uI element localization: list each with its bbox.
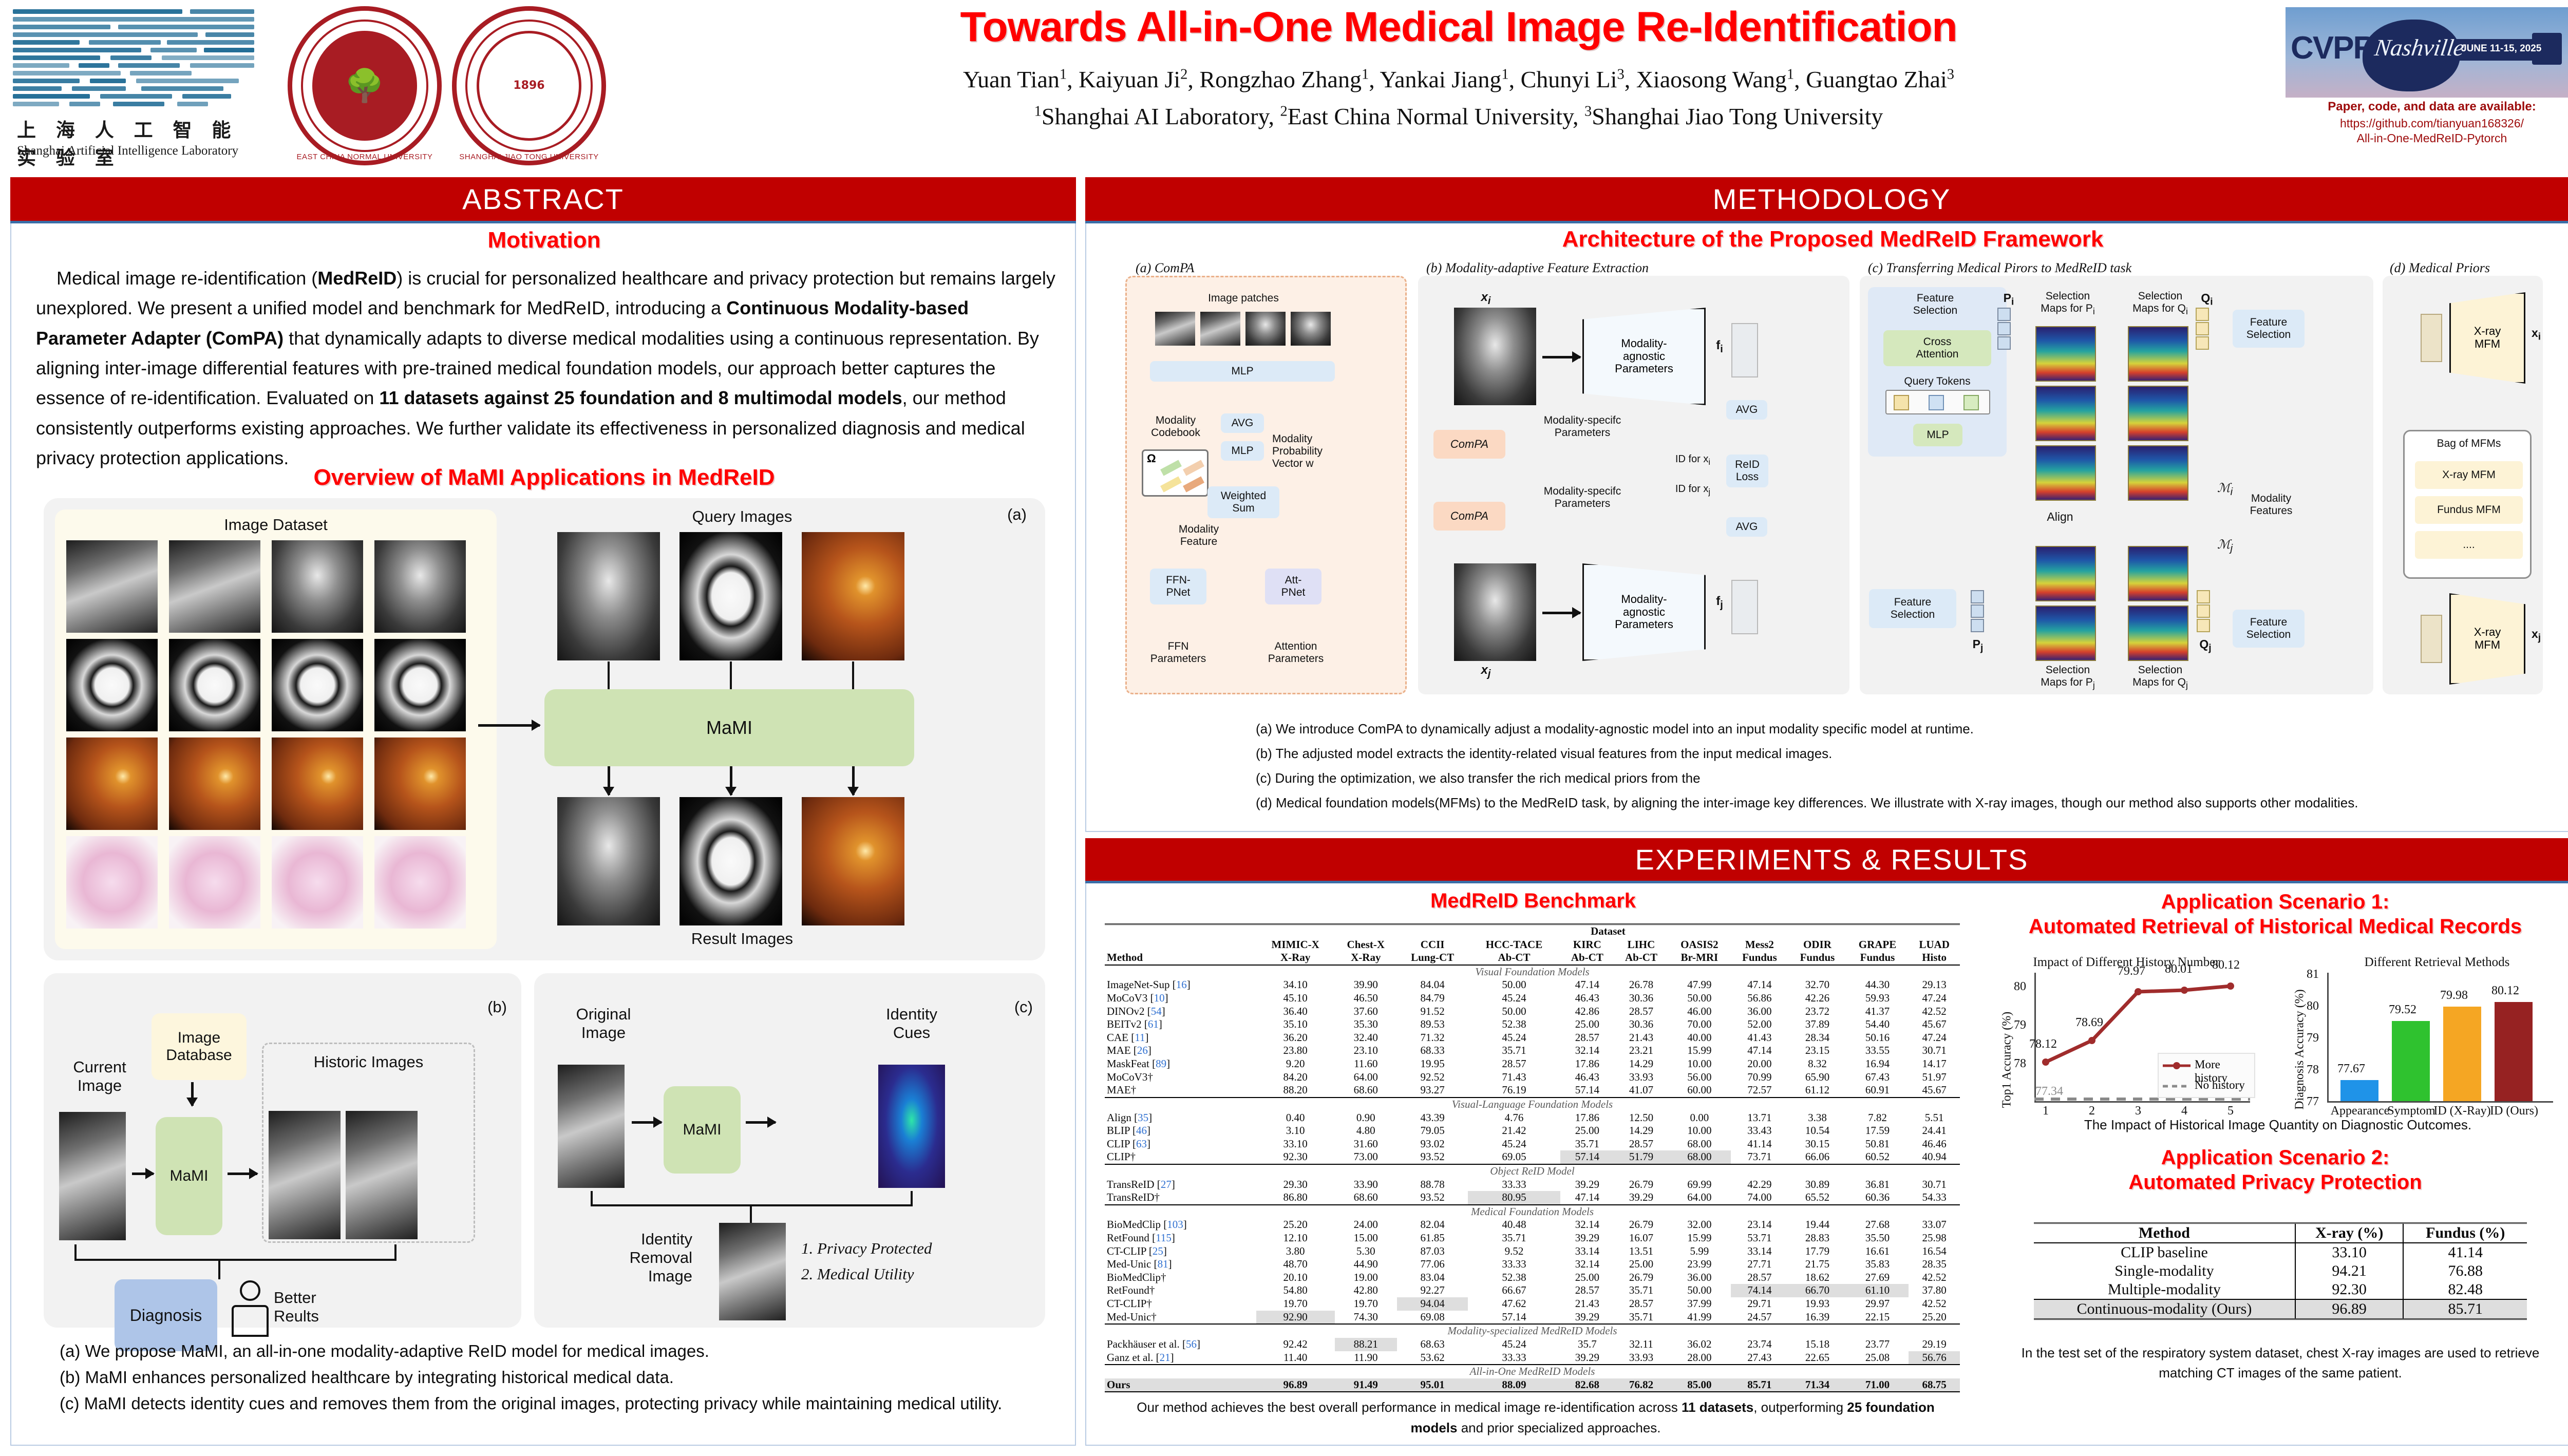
benchmark-method-cell: Align [35] — [1105, 1111, 1256, 1125]
benchmark-value-cell: 25.20 — [1256, 1218, 1335, 1232]
benchmark-col-header-5: LIHCAb-CT — [1614, 938, 1668, 965]
benchmark-value-cell: 15.18 — [1788, 1338, 1846, 1351]
benchmark-value-cell: 16.94 — [1846, 1057, 1909, 1071]
benchmark-value-cell: 51.79 — [1614, 1150, 1668, 1164]
benchmark-value-cell: 0.40 — [1256, 1111, 1335, 1125]
benchmark-value-cell: 15.99 — [1668, 1044, 1731, 1057]
benchmark-value-cell: 33.93 — [1614, 1071, 1668, 1084]
benchmark-group-row: Modality-specialized MedReID Models — [1105, 1324, 1960, 1338]
benchmark-method-cell: CT-CLIP† — [1105, 1297, 1256, 1311]
benchmark-value-cell: 45.67 — [1909, 1084, 1960, 1098]
benchmark-value-cell: 36.00 — [1668, 1271, 1731, 1284]
benchmark-value-cell: 52.38 — [1468, 1271, 1560, 1284]
benchmark-value-cell: 36.00 — [1731, 1005, 1789, 1018]
m-j-label: ℳj — [2213, 538, 2237, 555]
benchmark-value-cell: 60.36 — [1846, 1191, 1909, 1205]
bar-chart-xaxis — [2327, 1101, 2553, 1103]
benchmark-value-cell: 21.75 — [1788, 1258, 1846, 1271]
benchmark-method-cell: Ganz et al. [21] — [1105, 1351, 1256, 1365]
benchmark-value-cell: 80.95 — [1468, 1191, 1560, 1205]
benchmark-value-cell: 93.02 — [1397, 1138, 1468, 1151]
image-dataset-container: Image Dataset — [55, 509, 497, 949]
table-row: CT-CLIP†19.7019.7094.0447.6221.4328.5737… — [1105, 1297, 1960, 1311]
benchmark-value-cell: 32.14 — [1560, 1044, 1614, 1057]
table-row: Single-modality94.2176.88 — [2034, 1262, 2527, 1280]
benchmark-value-cell: 35.71 — [1468, 1044, 1560, 1057]
history-number-line-chart: Impact of Different History Number Top1 … — [1990, 955, 2262, 1120]
github-url[interactable]: https://github.com/tianyuan168326/ All-i… — [2286, 116, 2568, 146]
benchmark-value-cell: 47.14 — [1731, 978, 1789, 992]
benchmark-value-cell: 34.10 — [1256, 978, 1335, 992]
col-sub: Lung-CT — [1411, 951, 1454, 963]
compa-box-j: ComPA — [1433, 502, 1505, 531]
mfm-item-xray: X-ray MFM — [2415, 461, 2523, 489]
benchmark-value-cell: 23.99 — [1668, 1258, 1731, 1271]
bar-xtick-appearance: Appearance — [2329, 1104, 2391, 1118]
benchmark-value-cell: 44.30 — [1846, 978, 1909, 992]
benchmark-value-cell: 57.14 — [1560, 1150, 1614, 1164]
benchmark-value-cell: 68.60 — [1335, 1084, 1398, 1098]
compa-avg-box: AVG — [1221, 413, 1264, 433]
benchmark-value-cell: 23.15 — [1788, 1044, 1846, 1057]
benchmark-value-cell: 69.99 — [1668, 1178, 1731, 1192]
xray-mfm-box-top: X-ray MFM — [2449, 292, 2525, 384]
benchmark-value-cell: 41.07 — [1614, 1084, 1668, 1098]
benchmark-method-cell: CT-CLIP [25] — [1105, 1245, 1256, 1258]
benchmark-value-cell: 45.10 — [1256, 992, 1335, 1005]
benchmark-group-title: Medical Foundation Models — [1105, 1205, 1960, 1219]
overview-heading: Overview of MaMI Applications in MedReID — [11, 465, 1077, 490]
benchmark-value-cell: 33.93 — [1614, 1351, 1668, 1365]
benchmark-value-cell: 47.24 — [1909, 992, 1960, 1005]
benchmark-group-row: Object ReID Model — [1105, 1164, 1960, 1178]
abstract-caption-b: (b) MaMI enhances personalized healthcar… — [36, 1364, 1058, 1390]
line-xtick-4: 4 — [2181, 1104, 2187, 1118]
benchmark-value-cell: 47.99 — [1668, 978, 1731, 992]
benchmark-value-cell: 41.14 — [1731, 1138, 1789, 1151]
figure-b-panel: (b) Current Image Image Database Histori… — [44, 973, 521, 1328]
benchmark-value-cell: 11.90 — [1335, 1351, 1398, 1365]
benchmark-value-cell: 15.00 — [1335, 1232, 1398, 1245]
benchmark-value-cell: 32.70 — [1788, 978, 1846, 992]
benchmark-value-cell: 42.52 — [1909, 1297, 1960, 1311]
ffn-pnet-box: FFN- PNet — [1150, 569, 1206, 604]
panel-d-title: (d) Medical Priors — [2390, 260, 2490, 276]
medical-utility-bullet: 2. Medical Utility — [801, 1265, 1022, 1283]
benchmark-value-cell: 68.60 — [1335, 1191, 1398, 1205]
benchmark-value-cell: 39.90 — [1335, 978, 1398, 992]
identity-removal-label: Identity Removal Image — [564, 1230, 692, 1285]
benchmark-value-cell: 30.71 — [1909, 1044, 1960, 1057]
figure-b-historic-xray-2 — [346, 1111, 418, 1239]
benchmark-value-cell: 74.14 — [1731, 1284, 1789, 1297]
result-thumb-fundus — [802, 797, 904, 925]
benchmark-value-cell: 25.00 — [1560, 1271, 1614, 1284]
line-ytick-80: 80 — [2014, 980, 2026, 994]
benchmark-value-cell: 54.40 — [1846, 1018, 1909, 1031]
benchmark-value-cell: 76.19 — [1468, 1084, 1560, 1098]
benchmark-value-cell: 33.43 — [1731, 1124, 1789, 1138]
col-sub: Fundus — [1742, 951, 1777, 963]
privacy-protected-bullet: 1. Privacy Protected — [801, 1239, 1022, 1258]
benchmark-value-cell: 41.37 — [1846, 1005, 1909, 1018]
benchmark-method-cell: BEITv2 [61] — [1105, 1018, 1256, 1031]
benchmark-value-cell: 32.14 — [1560, 1258, 1614, 1271]
app2-heading-line2: Automated Privacy Protection — [1985, 1170, 2565, 1195]
selmap-pi-2 — [2035, 386, 2096, 441]
benchmark-method-cell: TransReID† — [1105, 1191, 1256, 1205]
bar-ytick-80: 80 — [2307, 999, 2319, 1013]
privacy-xray-cell: 33.10 — [2295, 1243, 2404, 1262]
benchmark-value-cell: 65.90 — [1788, 1071, 1846, 1084]
mfm-item-fundus: Fundus MFM — [2415, 496, 2523, 524]
col-name: GRAPE — [1859, 938, 1897, 951]
benchmark-group-title: All-in-One MedReID Models — [1105, 1365, 1960, 1378]
sjtu-emblem: 1896 — [477, 31, 581, 141]
benchmark-value-cell: 57.14 — [1468, 1311, 1560, 1325]
bar-ytick-77: 77 — [2307, 1095, 2319, 1109]
benchmark-value-cell: 10.00 — [1668, 1124, 1731, 1138]
q-j-label: Qj — [2194, 637, 2217, 654]
benchmark-value-cell: 14.29 — [1614, 1124, 1668, 1138]
modality-agnostic-box-j: Modality- agnostic Parameters — [1582, 563, 1706, 661]
patch-thumb-1 — [1155, 312, 1195, 346]
benchmark-value-cell: 28.35 — [1909, 1258, 1960, 1271]
benchmark-value-cell: 88.21 — [1335, 1338, 1398, 1351]
benchmark-value-cell: 65.52 — [1788, 1191, 1846, 1205]
benchmark-value-cell: 28.57 — [1731, 1271, 1789, 1284]
benchmark-value-cell: 70.00 — [1668, 1018, 1731, 1031]
benchmark-value-cell: 24.41 — [1909, 1124, 1960, 1138]
benchmark-value-cell: 69.08 — [1397, 1311, 1468, 1325]
github-url-line2: All-in-One-MedReID-Pytorch — [2357, 131, 2507, 145]
identity-removal-xray — [719, 1223, 786, 1320]
benchmark-method-cell: BioMedClip [103] — [1105, 1218, 1256, 1232]
methodology-panel: Architecture of the Proposed MedReID Fra… — [1085, 223, 2568, 832]
reid-loss-box: ReID Loss — [1726, 455, 1768, 487]
benchmark-value-cell: 28.57 — [1560, 1284, 1614, 1297]
dataset-thumb-fundus-3 — [272, 738, 363, 830]
benchmark-value-cell: 28.00 — [1668, 1351, 1731, 1365]
methodology-caption-a: (a) We introduce ComPA to dynamically ad… — [1256, 716, 2540, 741]
benchmark-value-cell: 14.29 — [1614, 1057, 1668, 1071]
app1-heading: Application Scenario 1: Automated Retrie… — [1985, 890, 2565, 939]
line-ytick-79: 79 — [2014, 1018, 2026, 1032]
benchmark-group-row: Medical Foundation Models — [1105, 1205, 1960, 1219]
benchmark-value-cell: 42.52 — [1909, 1005, 1960, 1018]
modality-specific-label-j: Modality-specifc Parameters — [1516, 485, 1649, 510]
sail-chinese-name: 上 海 人 工 智 能 实 验 室 — [17, 115, 259, 170]
benchmark-value-cell: 32.14 — [1560, 1218, 1614, 1232]
benchmark-group-row: All-in-One MedReID Models — [1105, 1365, 1960, 1378]
benchmark-value-cell: 76.82 — [1614, 1378, 1668, 1392]
modality-probability-label: Modality Probability Vector w — [1272, 433, 1370, 470]
benchmark-value-cell: 50.00 — [1668, 1284, 1731, 1297]
benchmark-value-cell: 52.00 — [1731, 1018, 1789, 1031]
benchmark-value-cell: 36.81 — [1846, 1178, 1909, 1192]
benchmark-value-cell: 68.75 — [1909, 1378, 1960, 1392]
benchmark-value-cell: 61.85 — [1397, 1232, 1468, 1245]
benchmark-value-cell: 35.10 — [1256, 1018, 1335, 1031]
result-images-label: Result Images — [537, 930, 948, 948]
ecnu-seal-caption: EAST CHINA NORMAL UNIVERSITY — [288, 153, 442, 161]
privacy-fundus-cell: 85.71 — [2403, 1299, 2527, 1319]
benchmark-col-header-1: Chest-XX-Ray — [1335, 938, 1398, 965]
mfm-feature-map-bottom — [2421, 615, 2442, 663]
line-xtick-2: 2 — [2089, 1104, 2095, 1118]
feature-selection-box-bottom: Feature Selection — [1869, 589, 1956, 628]
benchmark-value-cell: 3.38 — [1788, 1111, 1846, 1125]
id-for-xi-label: ID for xi — [1659, 453, 1726, 467]
line-point-3 — [2135, 988, 2142, 995]
benchmark-value-cell: 30.89 — [1788, 1178, 1846, 1192]
benchmark-value-cell: 84.20 — [1256, 1071, 1335, 1084]
benchmark-value-cell: 41.99 — [1668, 1311, 1731, 1325]
benchmark-value-cell: 56.86 — [1731, 992, 1789, 1005]
benchmark-value-cell: 28.83 — [1788, 1232, 1846, 1245]
selection-maps-qj-label: Selection Maps for Qj — [2117, 664, 2204, 690]
bar-datalabel-id-xray: 79.98 — [2440, 989, 2468, 1003]
input-xj-label: xj — [1440, 663, 1532, 680]
benchmark-value-cell: 60.00 — [1668, 1084, 1731, 1098]
benchmark-value-cell: 82.68 — [1560, 1378, 1614, 1392]
table-row: Packhäuser et al. [56]92.4288.2168.6345.… — [1105, 1338, 1960, 1351]
benchmark-col-header-9: GRAPEFundus — [1846, 938, 1909, 965]
benchmark-value-cell: 94.04 — [1397, 1297, 1468, 1311]
benchmark-value-cell: 71.32 — [1397, 1031, 1468, 1045]
app1-heading-line2: Automated Retrieval of Historical Medica… — [1985, 914, 2565, 939]
benchmark-col-header-0: MIMIC-XX-Ray — [1256, 938, 1335, 965]
ecnu-emblem: 🌳 — [312, 31, 417, 141]
benchmark-table-body: Visual Foundation ModelsImageNet-Sup [16… — [1105, 965, 1960, 1394]
table-row: CLIP baseline33.1041.14 — [2034, 1243, 2527, 1262]
benchmark-value-cell: 24.57 — [1731, 1311, 1789, 1325]
dataset-thumb-xray-2 — [169, 540, 260, 633]
methodology-caption-d: (d) Medical foundation models(MFMs) to t… — [1256, 790, 2540, 815]
benchmark-value-cell: 35.71 — [1614, 1284, 1668, 1297]
avg-box-i: AVG — [1726, 400, 1767, 420]
benchmark-value-cell: 50.81 — [1846, 1138, 1909, 1151]
benchmark-value-cell: 37.60 — [1335, 1005, 1398, 1018]
benchmark-value-cell: 16.39 — [1788, 1311, 1846, 1325]
selmap-pj-2 — [2035, 606, 2096, 661]
benchmark-value-cell: 92.42 — [1256, 1338, 1335, 1351]
benchmark-value-cell: 70.99 — [1731, 1071, 1789, 1084]
selection-maps-qi-label: Selection Maps for Qi — [2117, 290, 2204, 316]
affiliation-list: 1Shanghai AI Laboratory, 2East China Nor… — [642, 103, 2275, 130]
figure-c-original-xray — [558, 1065, 625, 1188]
modality-specific-label-i: Modality-specifc Parameters — [1516, 414, 1649, 439]
line-chart-legend: More history No history — [2158, 1053, 2255, 1098]
benchmark-value-cell: 36.40 — [1256, 1005, 1335, 1018]
benchmark-value-cell: 88.78 — [1397, 1178, 1468, 1192]
p-j-label: Pj — [1968, 637, 1988, 654]
benchmark-value-cell: 84.04 — [1397, 978, 1468, 992]
benchmark-value-cell: 46.00 — [1668, 1005, 1731, 1018]
benchmark-value-cell: 35.7 — [1560, 1338, 1614, 1351]
privacy-protection-table: MethodX-ray (%)Fundus (%) CLIP baseline3… — [2034, 1222, 2527, 1321]
benchmark-method-cell: MoCoV3† — [1105, 1071, 1256, 1084]
benchmark-value-cell: 87.03 — [1397, 1245, 1468, 1258]
benchmark-method-cell: CLIP [63] — [1105, 1138, 1256, 1151]
abstract-panel: Motivation Medical image re-identificati… — [10, 223, 1076, 1446]
table-row: Ours96.8991.4995.0188.0982.6876.8285.008… — [1105, 1378, 1960, 1392]
compa-box-i: ComPA — [1433, 430, 1505, 459]
benchmark-value-cell: 30.36 — [1614, 1018, 1668, 1031]
benchmark-value-cell: 47.24 — [1909, 1031, 1960, 1045]
legend-label-no-history: No history — [2195, 1079, 2245, 1092]
modality-features-label: Modality Features — [2233, 493, 2310, 517]
benchmark-value-cell: 23.77 — [1846, 1338, 1909, 1351]
benchmark-value-cell: 27.71 — [1731, 1258, 1789, 1271]
benchmark-method-cell: Med-Unic† — [1105, 1311, 1256, 1325]
benchmark-value-cell: 33.10 — [1256, 1138, 1335, 1151]
privacy-method-cell: CLIP baseline — [2034, 1243, 2295, 1262]
feature-selection-box-cj: Feature Selection — [2233, 610, 2305, 648]
benchmark-value-cell: 40.94 — [1909, 1150, 1960, 1164]
result-thumb-ct — [679, 797, 782, 925]
benchmark-value-cell: 61.12 — [1788, 1084, 1846, 1098]
selmap-qi-2 — [2128, 386, 2188, 441]
benchmark-value-cell: 21.43 — [1614, 1031, 1668, 1045]
benchmark-table: Method Dataset MIMIC-XX-RayChest-XX-RayC… — [1105, 923, 1960, 1393]
original-image-label: Original Image — [550, 1005, 657, 1042]
benchmark-value-cell: 28.57 — [1614, 1005, 1668, 1018]
modality-feature-label: Modality Feature — [1150, 523, 1248, 548]
benchmark-value-cell: 93.52 — [1397, 1191, 1468, 1205]
benchmark-value-cell: 54.33 — [1909, 1191, 1960, 1205]
benchmark-value-cell: 22.15 — [1846, 1311, 1909, 1325]
benchmark-value-cell: 68.63 — [1397, 1338, 1468, 1351]
benchmark-value-cell: 20.10 — [1256, 1271, 1335, 1284]
benchmark-value-cell: 19.70 — [1256, 1297, 1335, 1311]
benchmark-value-cell: 85.71 — [1731, 1378, 1789, 1392]
dataset-thumb-fundus-4 — [374, 738, 466, 830]
table-row: CAE [11]36.2032.4071.3245.2428.5721.4340… — [1105, 1031, 1960, 1045]
col-sub: Br-MRI — [1681, 951, 1719, 963]
mlp-box-c: MLP — [1913, 424, 1962, 446]
table-row: Multiple-modality92.3082.48 — [2034, 1280, 2527, 1299]
col-name: MIMIC-X — [1272, 938, 1319, 951]
benchmark-value-cell: 19.70 — [1335, 1297, 1398, 1311]
experiments-section-bar: EXPERIMENTS & RESULTS — [1085, 838, 2568, 883]
benchmark-value-cell: 25.98 — [1909, 1232, 1960, 1245]
benchmark-method-cell: TransReID [27] — [1105, 1178, 1256, 1192]
benchmark-method-cell: DINOv2 [54] — [1105, 1005, 1256, 1018]
benchmark-value-cell: 92.30 — [1256, 1150, 1335, 1164]
benchmark-value-cell: 19.44 — [1788, 1218, 1846, 1232]
benchmark-value-cell: 23.10 — [1335, 1044, 1398, 1057]
table-row: BioMedClip [103]25.2024.0082.0440.4832.1… — [1105, 1218, 1960, 1232]
benchmark-method-cell: MoCoV3 [10] — [1105, 992, 1256, 1005]
benchmark-value-cell: 56.00 — [1668, 1071, 1731, 1084]
cvpr-logo-block: Nashville JUNE 11-15, 2025 CVPR Paper, c… — [2286, 7, 2568, 161]
selmap-qj-1 — [2128, 546, 2188, 601]
benchmark-value-cell: 88.09 — [1468, 1378, 1560, 1392]
col-sub: X-Ray — [1280, 951, 1310, 963]
bar-symptom — [2392, 1021, 2430, 1101]
benchmark-value-cell: 29.71 — [1731, 1297, 1789, 1311]
cvpr-wordmark: CVPR — [2291, 30, 2375, 66]
benchmark-value-cell: 17.59 — [1846, 1124, 1909, 1138]
benchmark-value-cell: 59.93 — [1846, 992, 1909, 1005]
line-point-4 — [2181, 987, 2188, 994]
benchmark-value-cell: 91.49 — [1335, 1378, 1398, 1392]
benchmark-value-cell: 85.00 — [1668, 1378, 1731, 1392]
benchmark-value-cell: 10.54 — [1788, 1124, 1846, 1138]
privacy-method-cell: Single-modality — [2034, 1262, 2295, 1280]
benchmark-value-cell: 33.33 — [1468, 1178, 1560, 1192]
benchmark-value-cell: 50.00 — [1668, 992, 1731, 1005]
bar-chart-yaxis — [2327, 973, 2329, 1101]
app2-caption: In the test set of the respiratory syste… — [2000, 1343, 2560, 1383]
patch-thumb-4 — [1291, 312, 1331, 346]
app1-heading-line1: Application Scenario 1: — [1985, 890, 2565, 914]
line-point-1 — [2042, 1058, 2049, 1066]
benchmark-method-cell: ImageNet-Sup [16] — [1105, 978, 1256, 992]
benchmark-method-cell: BioMedClip† — [1105, 1271, 1256, 1284]
figure-a-label: (a) — [1007, 505, 1027, 524]
motivation-heading: Motivation — [11, 228, 1077, 253]
benchmark-value-cell: 19.95 — [1397, 1057, 1468, 1071]
privacy-fundus-cell: 76.88 — [2403, 1262, 2527, 1280]
benchmark-value-cell: 5.99 — [1668, 1245, 1731, 1258]
app2-heading-line1: Application Scenario 2: — [1985, 1145, 2565, 1170]
line-datalabel-2: 78.69 — [2075, 1016, 2103, 1030]
dataset-thumb-xray-4 — [374, 540, 466, 633]
selection-maps-pi-label: Selection Maps for Pi — [2024, 290, 2111, 316]
privacy-xray-cell: 92.30 — [2295, 1280, 2404, 1299]
benchmark-value-cell: 60.91 — [1846, 1084, 1909, 1098]
bar-xtick-id-ours: ID (Ours) — [2485, 1104, 2543, 1118]
abstract-caption-a: (a) We propose MaMI, an all-in-one modal… — [36, 1338, 1058, 1364]
benchmark-value-cell: 33.33 — [1468, 1351, 1560, 1365]
bar-datalabel-appearance: 77.67 — [2337, 1062, 2365, 1076]
benchmark-value-cell: 71.34 — [1788, 1378, 1846, 1392]
app2-heading: Application Scenario 2: Automated Privac… — [1985, 1145, 2565, 1195]
selmap-qi-3 — [2128, 445, 2188, 501]
benchmark-value-cell: 13.51 — [1614, 1245, 1668, 1258]
benchmark-value-cell: 89.53 — [1397, 1018, 1468, 1031]
abstract-figure-captions: (a) We propose MaMI, an all-in-one modal… — [36, 1338, 1058, 1416]
benchmark-value-cell: 28.57 — [1614, 1297, 1668, 1311]
benchmark-value-cell: 25.00 — [1560, 1124, 1614, 1138]
benchmark-value-cell: 36.20 — [1256, 1031, 1335, 1045]
benchmark-method-header: Method — [1105, 924, 1256, 965]
dataset-thumb-ct-2 — [169, 639, 260, 731]
benchmark-value-cell: 22.65 — [1788, 1351, 1846, 1365]
dataset-thumb-ct-1 — [66, 639, 158, 731]
bar-ytick-78: 78 — [2307, 1063, 2319, 1077]
abstract-caption-c: (c) MaMI detects identity cues and remov… — [36, 1390, 1058, 1416]
table-row: Ganz et al. [21]11.4011.9053.6233.3339.2… — [1105, 1351, 1960, 1365]
benchmark-value-cell: 17.86 — [1560, 1057, 1614, 1071]
benchmark-value-cell: 25.08 — [1846, 1351, 1909, 1365]
benchmark-value-cell: 42.29 — [1731, 1178, 1789, 1192]
table-row: DINOv2 [54]36.4037.6091.5250.0042.8628.5… — [1105, 1005, 1960, 1018]
benchmark-value-cell: 96.89 — [1256, 1378, 1335, 1392]
benchmark-value-cell: 68.00 — [1668, 1150, 1731, 1164]
benchmark-value-cell: 93.27 — [1397, 1084, 1468, 1098]
benchmark-value-cell: 23.14 — [1731, 1218, 1789, 1232]
benchmark-value-cell: 92.52 — [1397, 1071, 1468, 1084]
benchmark-value-cell: 37.80 — [1909, 1284, 1960, 1297]
table-row: CLIP [63]33.1031.6093.0245.2435.7128.576… — [1105, 1138, 1960, 1151]
benchmark-value-cell: 51.97 — [1909, 1071, 1960, 1084]
image-dataset-label: Image Dataset — [55, 516, 497, 534]
benchmark-value-cell: 45.24 — [1468, 1138, 1560, 1151]
benchmark-value-cell: 66.06 — [1788, 1150, 1846, 1164]
